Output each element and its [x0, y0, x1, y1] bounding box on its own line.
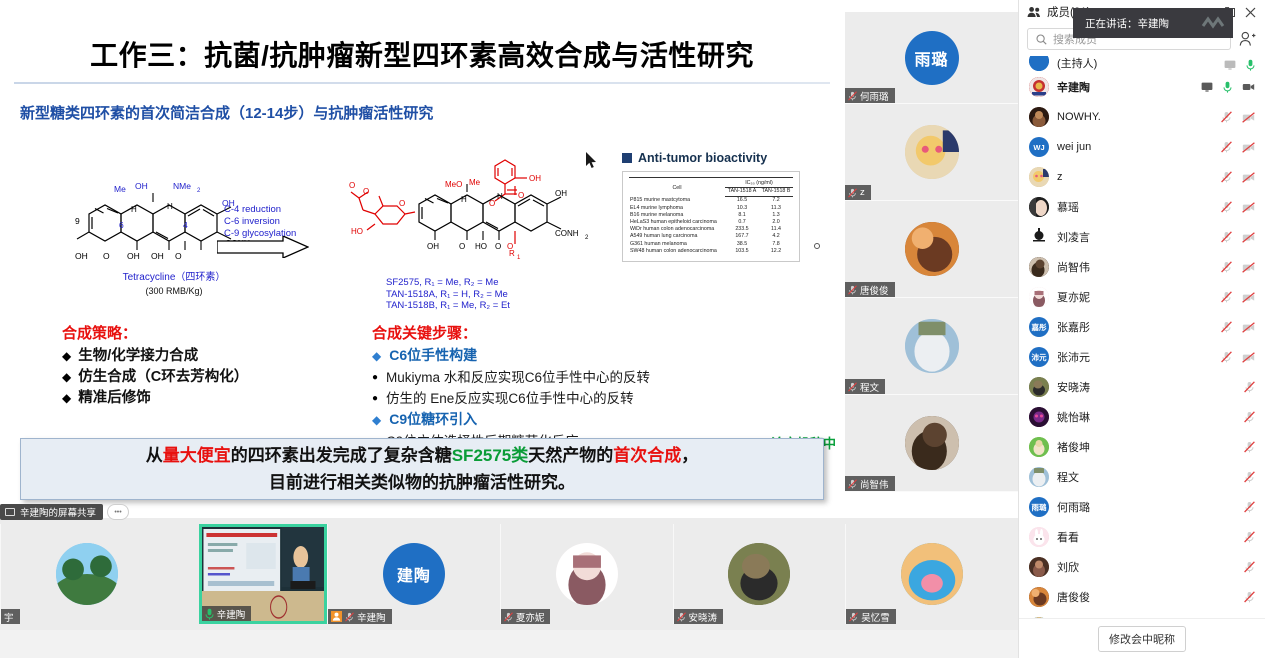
svg-text:O: O — [349, 181, 355, 190]
svg-text:2: 2 — [585, 235, 589, 241]
participant-row[interactable]: NOWHY. — [1019, 102, 1265, 132]
participant-status-icons — [1244, 471, 1255, 483]
svg-text:MeO: MeO — [445, 180, 462, 189]
cell-line-name: B16 murine melanoma — [629, 211, 725, 218]
participant-name: 褚俊坤 — [1057, 439, 1236, 455]
participant-name: 吴忆雪 — [861, 610, 890, 624]
svg-text:O: O — [399, 199, 405, 208]
participant-name-tag: 吴忆雪 — [846, 609, 896, 624]
synthesis-strategy-block: 合成策略： 生物/化学接力合成仿生合成（C环去芳构化）精准后修饰 — [62, 322, 248, 409]
participant-name: 唐俊俊 — [860, 283, 889, 297]
mic-off-icon[interactable] — [1221, 261, 1232, 273]
video-tile[interactable]: 夏亦妮 — [500, 524, 673, 624]
ic50-tan-b: 7.8 — [759, 240, 793, 247]
search-icon — [1036, 34, 1047, 45]
share-screen-icon[interactable] — [1201, 82, 1213, 92]
avatar — [1029, 77, 1049, 97]
mic-off-icon[interactable] — [1221, 351, 1232, 363]
video-tile[interactable]: 程文 — [845, 298, 1018, 395]
participant-status-icons — [1221, 231, 1255, 243]
participant-name: 张沛元 — [1057, 349, 1213, 365]
svg-text:NMe: NMe — [173, 181, 191, 191]
avatar — [901, 543, 963, 605]
avatar — [1029, 197, 1049, 217]
mic-off-icon[interactable] — [677, 612, 686, 622]
col-header-cell: Cell — [629, 180, 725, 197]
col-header-tan-b: TAN-1518 B — [759, 187, 793, 196]
camera-off-icon[interactable] — [1242, 172, 1255, 183]
share-more-button[interactable]: ••• — [107, 504, 129, 520]
key-step-bullet: Mukiyma 水和反应实现C6位手性中心的反转 — [372, 367, 842, 388]
participant-avatar — [1029, 557, 1049, 577]
ic50-tan-a: 0.7 — [725, 218, 759, 225]
participant-row[interactable]: 夏亦妮 — [1019, 282, 1265, 312]
panel-header: 成员(21) 正在讲话：辛建陶 — [1019, 0, 1265, 24]
strategy-list: 生物/化学接力合成仿生合成（C环去芳构化）精准后修饰 — [62, 346, 248, 409]
mic-off-icon[interactable] — [1221, 171, 1232, 183]
svg-text:Me: Me — [114, 184, 126, 194]
tetracycline-label: Tetracycline（四环素） — [59, 268, 289, 283]
participant-status-icons — [1244, 411, 1255, 423]
cell-line-name: EL4 murine lymphoma — [629, 204, 725, 211]
svg-text:OH: OH — [127, 251, 140, 261]
camera-off-icon[interactable] — [1242, 352, 1255, 363]
avatar — [1029, 407, 1049, 427]
key-steps-heading: 合成关键步骤： — [372, 322, 842, 343]
participant-avatar — [1029, 527, 1049, 547]
participant-avatar — [1029, 107, 1049, 127]
avatar-initials: 建陶 — [397, 562, 431, 586]
participant-name: wei jun — [1057, 141, 1213, 153]
tooltip-wave-icon — [1201, 16, 1227, 30]
participant-name: NOWHY. — [1057, 111, 1213, 123]
presentation-slide: 工作三：抗菌/抗肿瘤新型四环素高效合成与活性研究 新型糖类四环素的首次简洁合成（… — [14, 24, 830, 502]
participant-list[interactable]: (主持人)辛建陶NOWHY.WJwei junz慕瑶刘凌言尚智伟夏亦妮嘉彤张嘉彤… — [1019, 56, 1265, 618]
slide-subtitle: 新型糖类四环素的首次简洁合成（12-14步）与抗肿瘤活性研究 — [20, 102, 720, 123]
ic50-tan-a: 38.5 — [725, 240, 759, 247]
svg-text:4: 4 — [183, 220, 188, 230]
video-tile[interactable]: 吴忆雪 — [845, 524, 1018, 624]
avatar — [556, 543, 618, 605]
svg-text:OH: OH — [75, 251, 88, 261]
video-column: 雨璐何雨璐z唐俊俊程文尚智伟 — [845, 0, 1018, 518]
video-tile[interactable]: z — [845, 104, 1018, 201]
participant-status-icons — [1221, 261, 1255, 273]
camera-off-icon[interactable] — [1242, 232, 1255, 243]
participant-name-tag: 唐俊俊 — [845, 282, 895, 297]
svg-text:O: O — [459, 242, 465, 251]
square-bullet-icon — [622, 153, 632, 163]
mic-off-icon[interactable] — [848, 188, 857, 198]
ic50-tan-b: 7.2 — [759, 196, 793, 204]
participant-row[interactable]: 安晓涛 — [1019, 372, 1265, 402]
svg-text:CONH: CONH — [555, 229, 579, 238]
participant-avatar: WJ — [1029, 137, 1049, 157]
bioactivity-table-card: Cell IC₅₀ (ng/ml) TAN-1518 A TAN-1518 B … — [622, 171, 800, 262]
participant-row[interactable]: 嘉彤张嘉彤 — [1019, 312, 1265, 342]
ic50-tan-a: 10.3 — [725, 204, 759, 211]
camera-off-icon[interactable] — [1242, 292, 1255, 303]
participant-row[interactable]: 吴忆雪 — [1019, 612, 1265, 618]
mic-off-icon[interactable] — [1221, 231, 1232, 243]
participant-avatar — [1029, 407, 1049, 427]
strategy-item: 精准后修饰 — [62, 388, 248, 409]
cell-line-name: G361 human melanoma — [629, 240, 725, 247]
key-step-header: C9位糖环引入 — [372, 409, 842, 431]
participant-avatar — [1029, 56, 1049, 71]
participant-status-icons — [1221, 321, 1255, 333]
participant-avatar — [1029, 377, 1049, 397]
close-icon[interactable] — [1243, 5, 1257, 19]
participant-avatar — [1029, 227, 1049, 247]
ic50-tan-b: 2.0 — [759, 218, 793, 225]
video-tile[interactable]: 安晓涛 — [673, 524, 846, 624]
participant-name: 何雨璐 — [1057, 499, 1236, 515]
svg-text:H: H — [497, 192, 503, 201]
tetracycline-price: (300 RMB/Kg) — [59, 286, 289, 296]
table-row: WiDr human colon adenocarcinoma233.511.4 — [629, 226, 793, 233]
svg-text:2: 2 — [197, 188, 201, 194]
avatar-initials: 雨璐 — [914, 46, 948, 70]
avatar — [905, 416, 959, 470]
annotation-circle-icon — [814, 243, 820, 249]
avatar — [905, 319, 959, 373]
participant-row[interactable]: 沛元张沛元 — [1019, 342, 1265, 372]
avatar — [1029, 56, 1049, 71]
cell-line-name: SW48 human colon adenocarcinoma — [629, 247, 725, 254]
video-tile[interactable]: 雨璐何雨璐 — [845, 12, 1018, 104]
avatar: 建陶 — [383, 543, 445, 605]
filmstrip-spacer — [0, 630, 1018, 658]
svg-text:OH: OH — [135, 181, 148, 191]
participant-row[interactable]: 慕瑶 — [1019, 192, 1265, 222]
participant-status-icons — [1244, 591, 1255, 603]
svg-text:H: H — [131, 205, 137, 214]
svg-text:Me: Me — [469, 178, 481, 187]
participant-avatar — [1029, 167, 1049, 187]
avatar — [1029, 107, 1049, 127]
svg-text:9: 9 — [75, 216, 80, 226]
svg-text:O: O — [363, 187, 369, 196]
avatar — [1029, 617, 1049, 618]
svg-text:OH: OH — [555, 189, 567, 198]
avatar — [1029, 167, 1049, 187]
participant-status-icons — [1244, 561, 1255, 573]
participant-avatar: 沛元 — [1029, 347, 1049, 367]
table-row: HeLaS3 human epitheloid carcinoma0.72.0 — [629, 218, 793, 225]
ic50-tan-a: 103.5 — [725, 247, 759, 254]
cell-line-name: P815 murine mastcytoma — [629, 196, 725, 204]
key-step-header: C6位手性构建 — [372, 345, 842, 367]
participant-status-icons — [1221, 201, 1255, 213]
mic-off-icon[interactable] — [1244, 471, 1255, 483]
avatar — [1029, 257, 1049, 277]
table-row: B16 murine melanoma8.11.3 — [629, 211, 793, 218]
participant-avatar — [1029, 77, 1049, 97]
mic-off-icon[interactable] — [848, 382, 857, 392]
mic-off-icon[interactable] — [1221, 141, 1232, 153]
panel-footer: 修改会中昵称 — [1019, 618, 1265, 658]
participant-name: 看看 — [1057, 529, 1236, 545]
participant-row[interactable]: WJwei jun — [1019, 132, 1265, 162]
participant-name-tag: 何雨璐 — [845, 88, 895, 103]
participant-status-icons — [1224, 59, 1255, 71]
participant-row[interactable]: 辛建陶 — [1019, 72, 1265, 102]
participant-status-icons — [1244, 381, 1255, 393]
monitor-icon — [5, 508, 15, 516]
participant-name-tag: 夏亦妮 — [501, 609, 551, 624]
conclusion-banner: 从量大便宜的四环素出发完成了复杂含糖SF2575类天然产物的首次合成， 目前进行… — [20, 438, 824, 500]
svg-text:O: O — [103, 251, 110, 261]
participant-name: 宇 — [4, 610, 14, 624]
svg-text:HO: HO — [351, 227, 363, 236]
participant-avatar — [1029, 587, 1049, 607]
conclusion-line-1: 从量大便宜的四环素出发完成了复杂含糖SF2575类天然产物的首次合成， — [146, 442, 699, 469]
col-header-tan-a: TAN-1518 A — [725, 187, 759, 196]
participant-avatar — [1029, 197, 1049, 217]
avatar — [1029, 527, 1049, 547]
participant-name-tag: 程文 — [845, 379, 885, 394]
participant-status-icons — [1244, 531, 1255, 543]
screen-share-label[interactable]: 辛建陶的屏幕共享 — [0, 504, 103, 520]
compound-legend: SF2575, R₁ = Me, R₂ = Me TAN-1518A, R₁ =… — [386, 277, 510, 312]
participant-avatar — [1029, 437, 1049, 457]
participant-name: 何雨璐 — [860, 89, 889, 103]
change-nickname-button[interactable]: 修改会中昵称 — [1098, 626, 1186, 652]
avatar — [1029, 587, 1049, 607]
svg-text:OH: OH — [151, 251, 164, 261]
table-row: G361 human melanoma38.57.8 — [629, 240, 793, 247]
participant-name-tag: 辛建陶 — [328, 609, 392, 624]
participant-row[interactable]: 褚俊坤 — [1019, 432, 1265, 462]
svg-text:6: 6 — [119, 220, 124, 230]
bioactivity-rows: P815 murine mastcytoma16.57.2EL4 murine … — [629, 196, 793, 254]
transformation-steps: C-4 reduction C-6 inversion C-9 glycosyl… — [224, 204, 296, 240]
participant-row[interactable]: (主持人) — [1019, 56, 1265, 72]
reaction-arrow-icon — [217, 236, 309, 258]
add-member-icon[interactable] — [1237, 29, 1257, 49]
participants-panel: 成员(21) 正在讲话：辛建陶 搜索成员 — [1018, 0, 1265, 658]
avatar — [1029, 227, 1049, 247]
participant-row[interactable]: 看看 — [1019, 522, 1265, 552]
avatar — [1029, 437, 1049, 457]
participant-name: 姚怡琳 — [1057, 409, 1236, 425]
svg-text:H: H — [461, 195, 467, 204]
participant-row[interactable]: 唐俊俊 — [1019, 582, 1265, 612]
participant-row[interactable]: z — [1019, 162, 1265, 192]
strategy-item: 仿生合成（C环去芳构化） — [62, 367, 248, 388]
screen-share-area[interactable]: 工作三：抗菌/抗肿瘤新型四环素高效合成与活性研究 新型糖类四环素的首次简洁合成（… — [0, 0, 845, 518]
mic-off-icon[interactable] — [848, 91, 857, 101]
mic-off-icon[interactable] — [1244, 411, 1255, 423]
participant-name: 尚智伟 — [860, 477, 889, 491]
participant-name: 刘欣 — [1057, 559, 1236, 575]
avatar — [728, 543, 790, 605]
sf2575-structure: OHOO OO OHO — [349, 154, 614, 279]
avatar — [1029, 377, 1049, 397]
video-tile[interactable]: 宇 — [0, 524, 173, 624]
participant-status-icons — [1221, 171, 1255, 183]
col-header-ic50: IC₅₀ (ng/ml) — [725, 180, 793, 188]
participant-name: 辛建陶 — [357, 610, 386, 624]
table-row: A549 human lung carcinoma167.74.2 — [629, 233, 793, 240]
conclusion-line-2: 目前进行相关类似物的抗肿瘤活性研究。 — [269, 469, 575, 496]
cell-line-name: A549 human lung carcinoma — [629, 233, 725, 240]
camera-off-icon[interactable] — [1242, 322, 1255, 333]
ic50-tan-b: 4.2 — [759, 233, 793, 240]
participant-name: 刘凌言 — [1057, 229, 1213, 245]
participant-row[interactable]: 程文 — [1019, 462, 1265, 492]
screen-share-bar[interactable]: 辛建陶的屏幕共享 ••• — [0, 504, 129, 520]
avatar — [1029, 467, 1049, 487]
participant-row[interactable]: 刘欣 — [1019, 552, 1265, 582]
avatar — [905, 125, 959, 179]
camera-off-icon[interactable] — [1242, 112, 1255, 123]
share-screen-icon[interactable] — [1224, 60, 1236, 70]
video-tile[interactable]: 尚智伟 — [845, 395, 1018, 492]
participant-status-icons — [1221, 291, 1255, 303]
ic50-tan-b: 11.3 — [759, 204, 793, 211]
participant-name: (主持人) — [1057, 56, 1216, 71]
svg-text:O: O — [495, 242, 501, 251]
ic50-tan-a: 233.5 — [725, 226, 759, 233]
title-divider — [14, 82, 830, 84]
key-step-bullet: 仿生的 Ene反应实现C6位手性中心的反转 — [372, 388, 842, 409]
host-badge-icon — [331, 611, 342, 622]
mic-off-icon[interactable] — [1244, 381, 1255, 393]
table-row: P815 murine mastcytoma16.57.2 — [629, 196, 793, 204]
video-tile[interactable]: 唐俊俊 — [845, 201, 1018, 298]
meeting-window: 工作三：抗菌/抗肿瘤新型四环素高效合成与活性研究 新型糖类四环素的首次简洁合成（… — [0, 0, 1265, 658]
table-row: SW48 human colon adenocarcinoma103.512.2 — [629, 247, 793, 254]
avatar — [1029, 557, 1049, 577]
bioactivity-heading: Anti-tumor bioactivity — [622, 151, 812, 165]
participant-name: 安晓涛 — [1057, 379, 1236, 395]
ic50-tan-a: 16.5 — [725, 196, 759, 204]
camera-off-icon[interactable] — [1242, 202, 1255, 213]
mic-off-icon[interactable] — [1244, 561, 1255, 573]
participant-avatar — [1029, 257, 1049, 277]
participant-name: z — [860, 187, 865, 198]
participant-name: 夏亦妮 — [1057, 289, 1213, 305]
mic-off-icon[interactable] — [1244, 591, 1255, 603]
table-row: EL4 murine lymphoma10.311.3 — [629, 204, 793, 211]
mic-off-icon[interactable] — [1244, 501, 1255, 513]
mic-off-icon[interactable] — [504, 612, 513, 622]
svg-text:O: O — [175, 251, 182, 261]
mic-off-icon[interactable] — [1244, 531, 1255, 543]
participant-status-icons — [1221, 141, 1255, 153]
mic-off-icon[interactable] — [1221, 201, 1232, 213]
participant-name: 程文 — [1057, 469, 1236, 485]
participant-name-tag: 辛建陶 — [202, 606, 252, 621]
active-speaker-tile[interactable]: 辛建陶 — [199, 524, 327, 624]
participant-row[interactable]: 姚怡琳 — [1019, 402, 1265, 432]
mic-off-icon[interactable] — [848, 285, 857, 295]
svg-text:OH: OH — [529, 174, 541, 183]
mic-on-icon[interactable] — [1223, 81, 1232, 93]
participant-name: 辛建陶 — [217, 607, 246, 621]
strategy-heading: 合成策略： — [62, 322, 248, 343]
avatar — [905, 222, 959, 276]
mic-off-icon[interactable] — [1221, 321, 1232, 333]
slide-title: 工作三：抗菌/抗肿瘤新型四环素高效合成与活性研究 — [14, 34, 830, 74]
participant-name-tag: 宇 — [1, 609, 20, 624]
participant-name: 安晓涛 — [689, 610, 718, 624]
participant-name: 辛建陶 — [1057, 79, 1193, 95]
ic50-tan-a: 167.7 — [725, 233, 759, 240]
mic-off-icon[interactable] — [1244, 441, 1255, 453]
participant-name: 张嘉彤 — [1057, 319, 1213, 335]
participant-filmstrip: 宇辛建陶建陶辛建陶夏亦妮安晓涛吴忆雪 — [0, 518, 1018, 630]
participant-name-tag: 尚智伟 — [845, 476, 895, 491]
avatar — [56, 543, 118, 605]
participant-status-icons — [1244, 441, 1255, 453]
mic-off-icon[interactable] — [1221, 111, 1232, 123]
speaking-tooltip: 正在讲话：辛建陶 — [1073, 8, 1233, 38]
ic50-tan-b: 1.3 — [759, 211, 793, 218]
camera-off-icon[interactable] — [1242, 142, 1255, 153]
camera-off-icon[interactable] — [1242, 262, 1255, 273]
participant-avatar: 雨璐 — [1029, 497, 1049, 517]
participant-name-tag: z — [845, 185, 871, 200]
participant-avatar — [1029, 287, 1049, 307]
participant-name: 唐俊俊 — [1057, 589, 1236, 605]
participant-name: 夏亦妮 — [516, 610, 545, 624]
mic-off-icon[interactable] — [849, 612, 858, 622]
svg-text:1: 1 — [517, 255, 521, 261]
participant-name: z — [1057, 171, 1213, 183]
avatar: 雨璐 — [905, 31, 959, 85]
participant-name: 程文 — [860, 380, 879, 394]
mic-on-icon[interactable] — [1246, 59, 1255, 71]
mic-off-icon[interactable] — [1221, 291, 1232, 303]
mic-off-icon[interactable] — [345, 612, 354, 622]
participant-row[interactable]: 刘凌言 — [1019, 222, 1265, 252]
bioactivity-block: Anti-tumor bioactivity Cell IC₅₀ (ng/ml)… — [622, 151, 812, 262]
mic-on-icon[interactable] — [205, 608, 214, 620]
cell-line-name: HeLaS3 human epitheloid carcinoma — [629, 218, 725, 225]
participant-status-icons — [1221, 111, 1255, 123]
cell-line-name: WiDr human colon adenocarcinoma — [629, 226, 725, 233]
camera-on-icon[interactable] — [1242, 82, 1255, 92]
key-steps-block: 合成关键步骤： C6位手性构建Mukiyma 水和反应实现C6位手性中心的反转仿… — [372, 322, 842, 452]
members-icon — [1027, 6, 1041, 18]
participant-status-icons — [1244, 501, 1255, 513]
participant-name-tag: 安晓涛 — [674, 609, 724, 624]
strategy-item: 生物/化学接力合成 — [62, 346, 248, 367]
video-tile[interactable]: 建陶辛建陶 — [327, 524, 500, 624]
participant-avatar: 嘉彤 — [1029, 317, 1049, 337]
participant-row[interactable]: 雨璐何雨璐 — [1019, 492, 1265, 522]
mic-off-icon[interactable] — [848, 479, 857, 489]
participant-avatar — [1029, 617, 1049, 618]
ic50-tan-b: 12.2 — [759, 247, 793, 254]
participant-row[interactable]: 尚智伟 — [1019, 252, 1265, 282]
participant-avatar — [1029, 467, 1049, 487]
participant-name: 尚智伟 — [1057, 259, 1213, 275]
svg-text:H: H — [167, 202, 173, 211]
svg-text:HO: HO — [475, 242, 487, 251]
participant-name: 慕瑶 — [1057, 199, 1213, 215]
bioactivity-table: Cell IC₅₀ (ng/ml) TAN-1518 A TAN-1518 B … — [629, 177, 793, 254]
mouse-cursor-icon — [586, 152, 598, 170]
participant-status-icons — [1201, 81, 1255, 93]
svg-text:OH: OH — [427, 242, 439, 251]
ic50-tan-a: 8.1 — [725, 211, 759, 218]
avatar — [1029, 287, 1049, 307]
svg-text:O: O — [507, 242, 513, 251]
